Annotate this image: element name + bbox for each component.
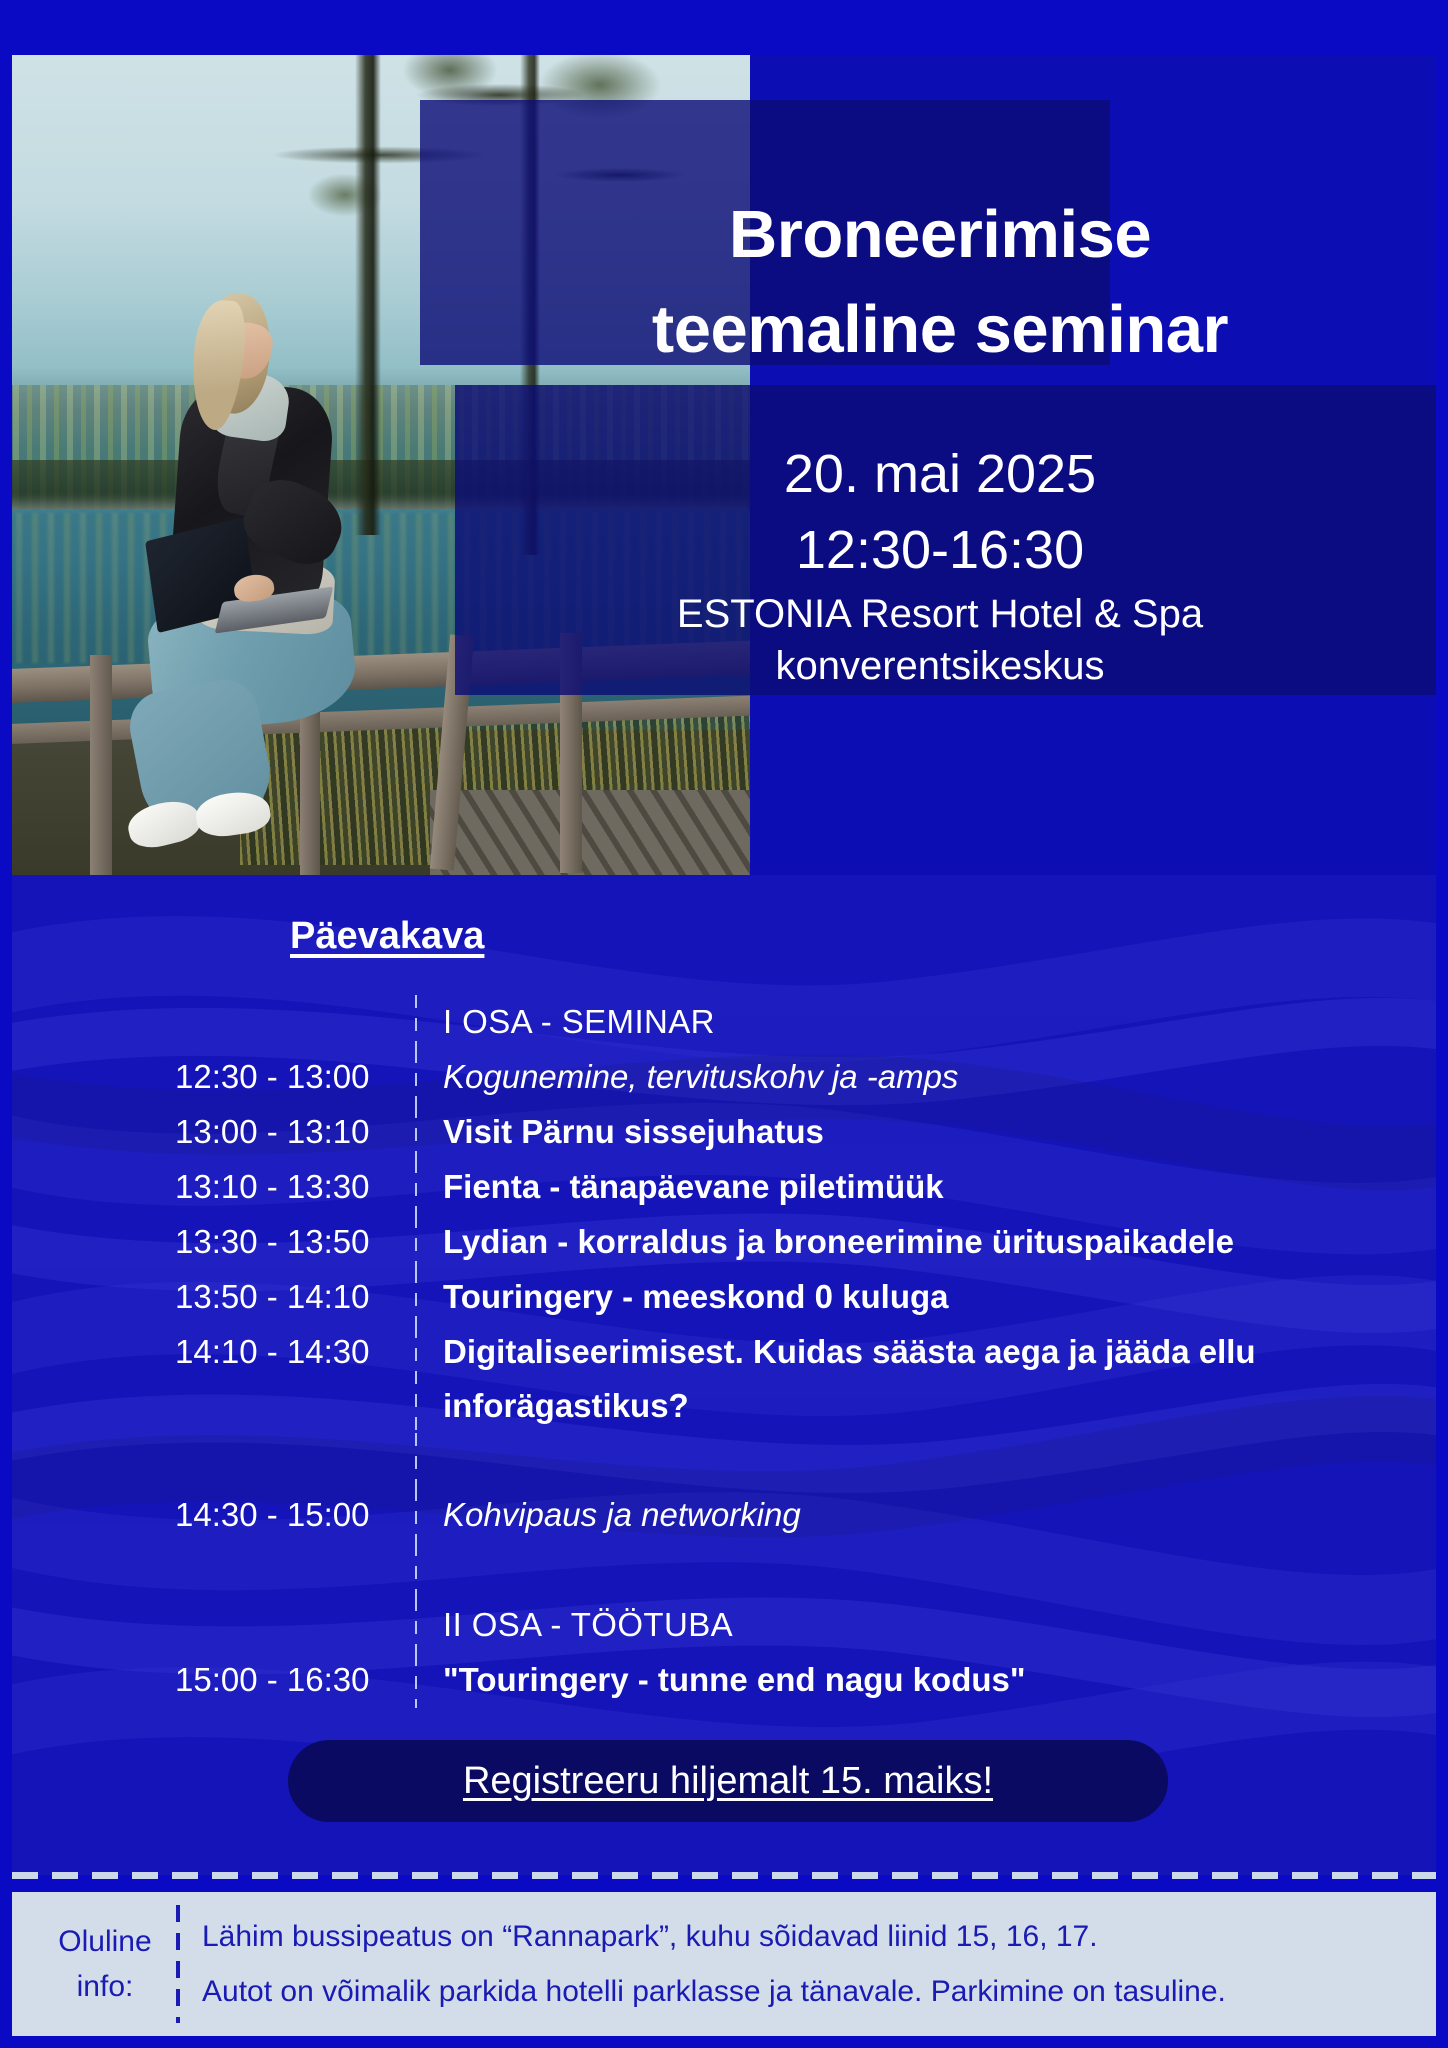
hero-section: Broneerimise teemaline seminar 20. mai 2… bbox=[0, 55, 1448, 890]
schedule-time: 14:10 - 14:30 bbox=[175, 1325, 415, 1379]
event-date: 20. mai 2025 bbox=[460, 437, 1420, 513]
footer-text-line-1: Lähim bussipeatus on “Rannapark”, kuhu s… bbox=[202, 1909, 1436, 1965]
footer-label-line-2: info: bbox=[40, 1964, 170, 2009]
event-details: 20. mai 2025 12:30-16:30 ESTONIA Resort … bbox=[460, 437, 1420, 692]
schedule-row-spacer bbox=[175, 1433, 1355, 1488]
schedule-row: 13:10 - 13:30 Fienta - tänapäevane pilet… bbox=[175, 1160, 1355, 1215]
schedule-title: Kohvipaus ja networking bbox=[417, 1488, 1355, 1542]
schedule-row: 13:00 - 13:10 Visit Pärnu sissejuhatus bbox=[175, 1105, 1355, 1160]
schedule-row: 12:30 - 13:00 Kogunemine, tervituskohv j… bbox=[175, 1050, 1355, 1105]
footer-label-line-1: Oluline bbox=[40, 1919, 170, 1964]
photo-railing-post-1 bbox=[90, 655, 112, 875]
page-title-line-1: Broneerimise bbox=[460, 187, 1420, 282]
schedule-time: 13:30 - 13:50 bbox=[175, 1215, 415, 1269]
schedule-heading: Päevakava bbox=[290, 915, 484, 958]
schedule-title: Touringery - meeskond 0 kuluga bbox=[417, 1270, 1355, 1324]
event-venue-line1: ESTONIA Resort Hotel & Spa bbox=[460, 588, 1420, 640]
schedule-title: I OSA - SEMINAR bbox=[417, 995, 1355, 1049]
dashed-separator bbox=[12, 1872, 1436, 1879]
photo-tree-trunk-1 bbox=[355, 55, 381, 535]
important-info-footer: Oluline info: Lähim bussipeatus on “Rann… bbox=[12, 1892, 1436, 2036]
schedule-divider bbox=[415, 1433, 417, 1488]
schedule-title: Lydian - korraldus ja broneerimine üritu… bbox=[417, 1215, 1355, 1269]
event-poster: Broneerimise teemaline seminar 20. mai 2… bbox=[0, 0, 1448, 2048]
schedule-time: 12:30 - 13:00 bbox=[175, 1050, 415, 1104]
page-title-line-2: teemaline seminar bbox=[460, 282, 1420, 377]
schedule-time: 13:10 - 13:30 bbox=[175, 1160, 415, 1214]
schedule-title: "Touringery - tunne end nagu kodus" bbox=[417, 1653, 1355, 1707]
frame-border-right bbox=[1436, 0, 1448, 2048]
schedule-row: 15:00 - 16:30 "Touringery - tunne end na… bbox=[175, 1653, 1355, 1708]
register-button-label: Registreeru hiljemalt 15. maiks! bbox=[463, 1760, 993, 1803]
footer-label: Oluline info: bbox=[40, 1919, 170, 2009]
schedule-divider bbox=[415, 1543, 417, 1598]
frame-border-top bbox=[0, 0, 1448, 12]
schedule-row: 13:30 - 13:50 Lydian - korraldus ja bron… bbox=[175, 1215, 1355, 1270]
schedule-title: Kogunemine, tervituskohv ja -amps bbox=[417, 1050, 1355, 1104]
schedule-time: 14:30 - 15:00 bbox=[175, 1488, 415, 1542]
schedule-title: Fienta - tänapäevane piletimüük bbox=[417, 1160, 1355, 1214]
event-venue-line2: konverentsikeskus bbox=[460, 640, 1420, 692]
schedule-title: Digitaliseerimisest. Kuidas säästa aega … bbox=[417, 1325, 1355, 1433]
footer-text: Lähim bussipeatus on “Rannapark”, kuhu s… bbox=[202, 1909, 1436, 2020]
footer-divider bbox=[176, 1905, 180, 2023]
schedule-row: 14:30 - 15:00 Kohvipaus ja networking bbox=[175, 1488, 1355, 1543]
photo-boardwalk-deck bbox=[430, 790, 750, 875]
frame-border-left bbox=[0, 0, 12, 2048]
schedule-time: 15:00 - 16:30 bbox=[175, 1653, 415, 1707]
schedule-row: 13:50 - 14:10 Touringery - meeskond 0 ku… bbox=[175, 1270, 1355, 1325]
schedule-title: Visit Pärnu sissejuhatus bbox=[417, 1105, 1355, 1159]
footer-text-line-2: Autot on võimalik parkida hotelli parkla… bbox=[202, 1964, 1436, 2020]
schedule-row-spacer bbox=[175, 1543, 1355, 1598]
register-button[interactable]: Registreeru hiljemalt 15. maiks! bbox=[288, 1740, 1168, 1822]
frame-border-bottom bbox=[0, 2036, 1448, 2048]
schedule-time: 13:50 - 14:10 bbox=[175, 1270, 415, 1324]
schedule-row: 14:10 - 14:30 Digitaliseerimisest. Kuida… bbox=[175, 1325, 1355, 1433]
event-time: 12:30-16:30 bbox=[460, 513, 1420, 589]
schedule-row: I OSA - SEMINAR bbox=[175, 995, 1355, 1050]
page-title: Broneerimise teemaline seminar bbox=[460, 187, 1420, 377]
schedule-title: II OSA - TÖÖTUBA bbox=[417, 1598, 1355, 1652]
schedule-row: II OSA - TÖÖTUBA bbox=[175, 1598, 1355, 1653]
schedule-list: I OSA - SEMINAR 12:30 - 13:00 Kogunemine… bbox=[175, 995, 1355, 1708]
schedule-time: 13:00 - 13:10 bbox=[175, 1105, 415, 1159]
